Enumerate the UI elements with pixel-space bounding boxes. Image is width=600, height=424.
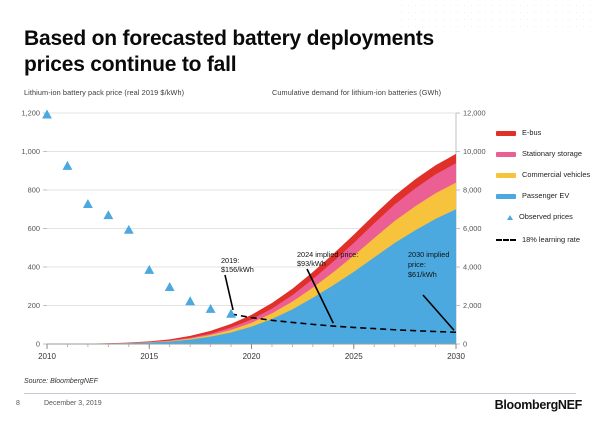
footer-date: December 3, 2019 xyxy=(44,400,102,407)
left-axis-tick-label: 0 xyxy=(36,340,40,349)
stacked-areas xyxy=(47,154,456,344)
legend-item-label: Stationary storage xyxy=(522,149,582,159)
legend-item-label: E-bus xyxy=(522,128,541,138)
left-axis-tick-label: 800 xyxy=(28,186,40,195)
slide-canvas: Based on forecasted battery deployments … xyxy=(0,0,600,424)
legend-item-observed-prices[interactable]: Observed prices xyxy=(496,212,600,222)
right-axis-tick-label: 0 xyxy=(463,340,467,349)
right-axis-tick-label: 6,000 xyxy=(463,224,482,233)
x-axis-tick-label: 2015 xyxy=(140,352,158,360)
legend-item-commercial-vehicles[interactable]: Commercial vehicles xyxy=(496,170,600,180)
observed-price-marker xyxy=(144,265,154,274)
observed-price-markers xyxy=(42,110,236,318)
source-note: Source: BloombergNEF xyxy=(24,378,98,385)
annotation-leader-line xyxy=(225,275,233,310)
page-number: 8 xyxy=(16,400,20,407)
legend-swatch-icon xyxy=(496,194,516,199)
left-axis-tick-label: 400 xyxy=(28,263,40,272)
legend-item-e-bus[interactable]: E-bus xyxy=(496,128,600,138)
legend-dash-icon xyxy=(496,239,516,241)
chart-legend: E-busStationary storageCommercial vehicl… xyxy=(496,128,600,258)
x-axis-tick-label: 2020 xyxy=(243,352,261,360)
legend-item-label: Commercial vehicles xyxy=(522,170,590,180)
x-axis: 20102015202020252030 xyxy=(38,344,465,360)
legend-swatch-icon xyxy=(496,131,516,136)
right-axis-tick-label: 2,000 xyxy=(463,301,482,310)
legend-item-label: 18% learning rate xyxy=(522,235,580,245)
observed-price-marker xyxy=(226,309,236,318)
annotation-text: $93/kWh xyxy=(297,259,326,268)
legend-triangle-icon xyxy=(507,215,513,220)
brand-logo: BloombergNEF xyxy=(495,398,582,412)
annotation-text: price: xyxy=(408,260,426,269)
observed-price-marker xyxy=(63,161,73,170)
left-axis-tick-label: 1,200 xyxy=(22,109,41,118)
left-axis-tick-label: 600 xyxy=(28,224,40,233)
legend-swatch-icon xyxy=(496,173,516,178)
x-axis-tick-label: 2010 xyxy=(38,352,56,360)
legend-item-18-learning-rate[interactable]: 18% learning rate xyxy=(496,235,600,245)
right-axis-caption: Cumulative demand for lithium-ion batter… xyxy=(272,88,441,97)
x-axis-tick-label: 2030 xyxy=(447,352,465,360)
annotation-text: $156/kWh xyxy=(221,265,254,274)
observed-price-marker xyxy=(42,110,52,119)
observed-price-marker xyxy=(103,210,113,219)
legend-item-stationary-storage[interactable]: Stationary storage xyxy=(496,149,600,159)
left-axis-caption: Lithium-ion battery pack price (real 201… xyxy=(24,88,184,97)
left-axis-tick-label: 1,000 xyxy=(22,147,41,156)
annotation-text: 2019: xyxy=(221,256,239,265)
right-axis-tick-label: 10,000 xyxy=(463,147,486,156)
annotation-text: 2024 implied price: xyxy=(297,250,358,259)
annotation-text: 2030 implied xyxy=(408,250,449,259)
x-axis-tick-label: 2025 xyxy=(345,352,363,360)
footer-divider xyxy=(24,393,576,394)
observed-price-marker xyxy=(165,282,175,291)
observed-price-marker xyxy=(124,225,134,234)
annotation-text: $61/kWh xyxy=(408,270,437,279)
observed-price-marker xyxy=(185,296,195,305)
legend-item-label: Observed prices xyxy=(519,212,573,222)
right-axis-tick-label: 12,000 xyxy=(463,109,486,118)
right-axis-tick-label: 4,000 xyxy=(463,263,482,272)
observed-price-marker xyxy=(83,199,93,208)
left-axis-tick-label: 200 xyxy=(28,301,40,310)
legend-swatch-icon xyxy=(496,152,516,157)
right-axis-tick-label: 8,000 xyxy=(463,186,482,195)
right-axis: 02,0004,0006,0008,00010,00012,000 xyxy=(456,109,486,349)
page-title: Based on forecasted battery deployments … xyxy=(24,26,444,77)
legend-item-label: Passenger EV xyxy=(522,191,569,201)
legend-item-passenger-ev[interactable]: Passenger EV xyxy=(496,191,600,201)
